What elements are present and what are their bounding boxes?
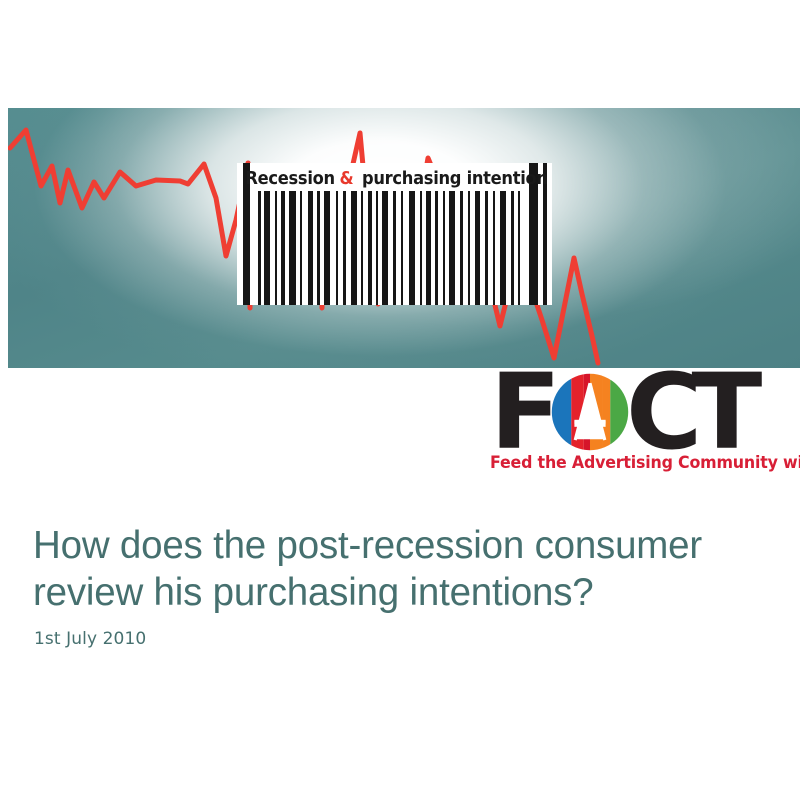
fact-logo-wordmark: F [490,372,796,452]
slide-date: 1st July 2010 [34,629,146,649]
logo-letter-f: F [490,374,556,450]
fact-logo-tagline: Feed the Advertising Community with Tren… [490,453,784,472]
logo-letter-c: C [626,374,697,450]
fact-logo: F [490,372,796,480]
barcode-caption: Recession & purchasing intention [252,166,544,191]
barcode-caption-ampersand: & [338,169,354,189]
logo-a-segments [551,373,629,451]
slide-canvas: Recession & purchasing intention F [0,0,800,800]
logo-letter-t: T [691,374,757,450]
barcode-caption-suffix: purchasing intention [362,169,548,189]
logo-letter-a-circle-icon [551,373,629,451]
barcode-caption-prefix: Recession [245,169,334,189]
slide-title: How does the post-recession consumer rev… [33,522,763,616]
